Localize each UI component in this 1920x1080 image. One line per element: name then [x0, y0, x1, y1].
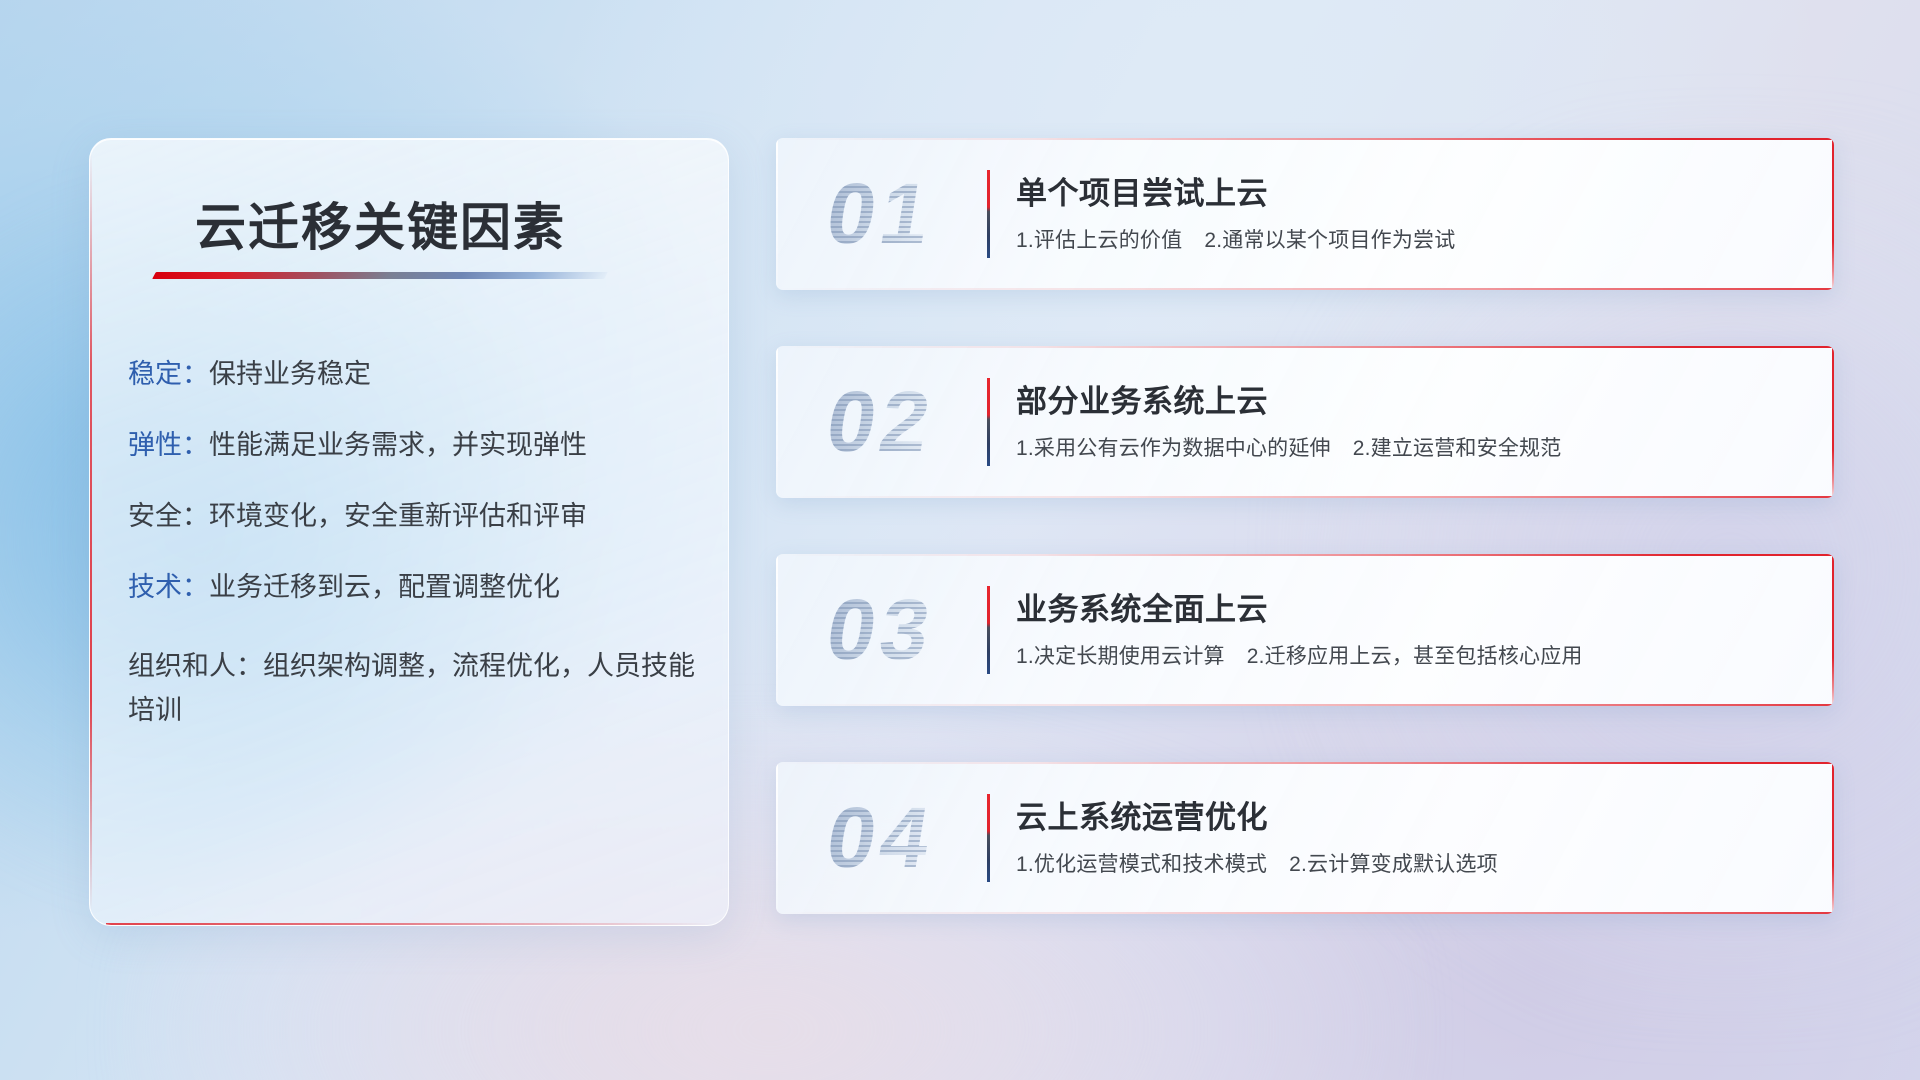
card-point-one: 1.优化运营模式和技术模式	[1016, 853, 1267, 876]
card-point-one: 1.决定长期使用云计算	[1016, 645, 1225, 668]
card-point-two: 2.通常以某个项目作为尝试	[1204, 229, 1455, 252]
card-border-bottom	[776, 912, 1834, 914]
panel-accent-bottom	[106, 923, 712, 925]
list-item-label: 弹性：	[128, 430, 209, 460]
card-subtitle: 1.优化运营模式和技术模式2.云计算变成默认选项	[1016, 848, 1498, 878]
card-border-right	[1832, 346, 1834, 498]
list-item-text: 保持业务稳定	[209, 359, 371, 389]
card-point-two: 2.迁移应用上云，甚至包括核心应用	[1247, 645, 1583, 668]
card-border-top	[776, 138, 1834, 140]
list-item: 安全：环境变化，安全重新评估和评审	[128, 503, 706, 530]
card-number-wrap: 03	[792, 580, 1018, 680]
card-border-bottom	[776, 704, 1834, 706]
card-border-bottom	[776, 288, 1834, 290]
card-subtitle: 1.决定长期使用云计算2.迁移应用上云，甚至包括核心应用	[1016, 640, 1583, 670]
card-border-left	[776, 346, 778, 498]
list-item-label: 技术：	[128, 572, 209, 602]
card-border-right	[1832, 138, 1834, 290]
card-border-left	[776, 762, 778, 914]
card-divider-bar	[987, 586, 990, 674]
card-number-wrap: 01	[792, 164, 1018, 264]
card-divider-bar	[987, 170, 990, 258]
card-point-one: 1.评估上云的价值	[1016, 229, 1182, 252]
stage-card[interactable]: 04 云上系统运营优化 1.优化运营模式和技术模式2.云计算变成默认选项	[776, 762, 1834, 914]
card-title: 单个项目尝试上云	[1016, 168, 1268, 213]
list-item-label: 组织和人：	[128, 651, 263, 681]
card-border-right	[1832, 554, 1834, 706]
list-item-text: 性能满足业务需求，并实现弹性	[209, 430, 587, 460]
stage-card[interactable]: 03 业务系统全面上云 1.决定长期使用云计算2.迁移应用上云，甚至包括核心应用	[776, 554, 1834, 706]
panel-title-underline	[152, 272, 608, 279]
card-border-left	[776, 554, 778, 706]
key-factors-list: 稳定：保持业务稳定 弹性：性能满足业务需求，并实现弹性 安全：环境变化，安全重新…	[128, 361, 706, 732]
card-number-wrap: 02	[792, 372, 1018, 472]
list-item-text: 业务迁移到云，配置调整优化	[209, 572, 560, 602]
list-item-label: 稳定：	[128, 359, 209, 389]
list-item: 技术：业务迁移到云，配置调整优化	[128, 574, 706, 601]
panel-accent-left	[90, 153, 92, 911]
card-border-top	[776, 346, 1834, 348]
stage-cards-list: 01 单个项目尝试上云 1.评估上云的价值2.通常以某个项目作为尝试 02 部分…	[776, 138, 1834, 914]
card-border-left	[776, 138, 778, 290]
card-divider-bar	[987, 378, 990, 466]
card-number: 02	[821, 379, 940, 465]
list-item-label: 安全：	[128, 501, 209, 531]
card-number-wrap: 04	[792, 788, 1018, 888]
card-border-top	[776, 762, 1834, 764]
list-item: 组织和人：组织架构调整，流程优化，人员技能培训	[128, 645, 706, 732]
card-number: 03	[821, 587, 940, 673]
card-border-top	[776, 554, 1834, 556]
list-item: 稳定：保持业务稳定	[128, 361, 706, 388]
card-subtitle: 1.评估上云的价值2.通常以某个项目作为尝试	[1016, 224, 1455, 254]
card-border-bottom	[776, 496, 1834, 498]
card-number: 04	[821, 795, 940, 881]
list-item: 弹性：性能满足业务需求，并实现弹性	[128, 432, 706, 459]
panel-title: 云迁移关键因素	[195, 186, 566, 260]
card-title: 云上系统运营优化	[1016, 792, 1268, 837]
card-point-two: 2.建立运营和安全规范	[1353, 437, 1562, 460]
stage-card[interactable]: 02 部分业务系统上云 1.采用公有云作为数据中心的延伸2.建立运营和安全规范	[776, 346, 1834, 498]
card-divider-bar	[987, 794, 990, 882]
card-point-one: 1.采用公有云作为数据中心的延伸	[1016, 437, 1331, 460]
card-title: 业务系统全面上云	[1016, 584, 1268, 629]
card-title: 部分业务系统上云	[1016, 376, 1268, 421]
card-border-right	[1832, 762, 1834, 914]
card-number: 01	[821, 171, 940, 257]
key-factors-panel: 云迁移关键因素 稳定：保持业务稳定 弹性：性能满足业务需求，并实现弹性 安全：环…	[89, 138, 729, 926]
stage-card[interactable]: 01 单个项目尝试上云 1.评估上云的价值2.通常以某个项目作为尝试	[776, 138, 1834, 290]
list-item-text: 环境变化，安全重新评估和评审	[209, 501, 587, 531]
card-subtitle: 1.采用公有云作为数据中心的延伸2.建立运营和安全规范	[1016, 432, 1561, 462]
card-point-two: 2.云计算变成默认选项	[1289, 853, 1498, 876]
